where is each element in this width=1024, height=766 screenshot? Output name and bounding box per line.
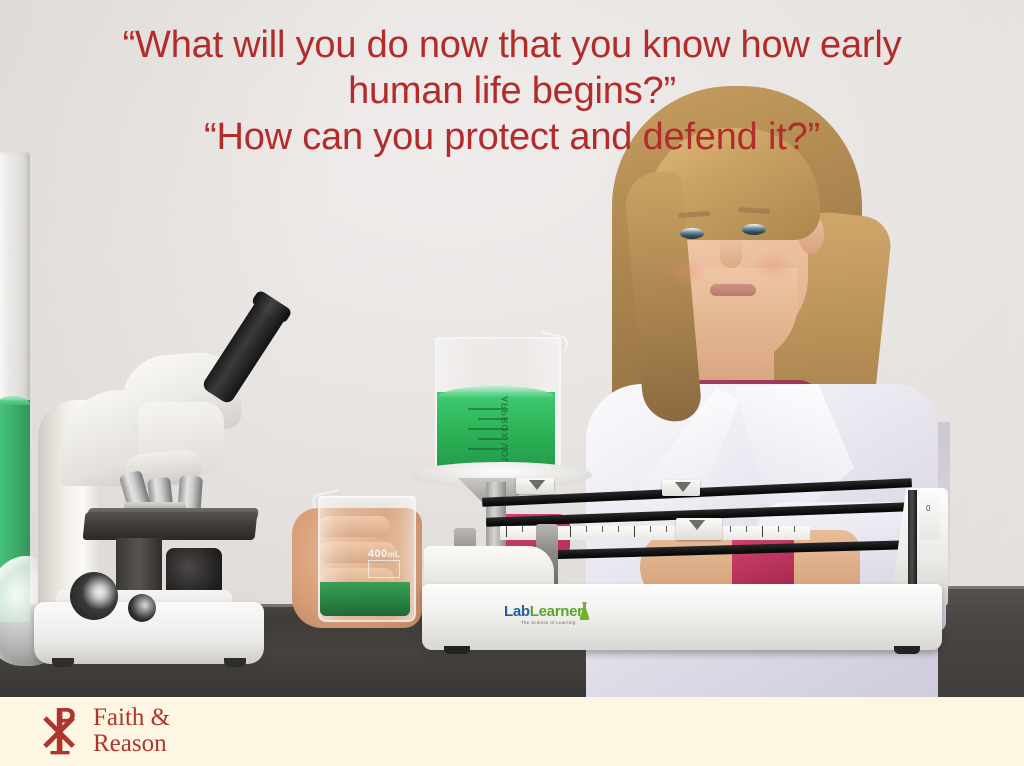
balance-zero-gauge <box>920 490 940 540</box>
triple-beam-balance: 0 LabLearner The Science of Learning <box>396 460 976 690</box>
balance-rider-rear[interactable] <box>516 478 554 494</box>
beaker-large-approx-vol-text: APPROX VOL <box>500 396 510 464</box>
eye-right <box>742 224 766 235</box>
faith-and-reason-logo: Faith & Reason <box>38 705 170 757</box>
faith-and-reason-wordmark: Faith & Reason <box>93 705 170 757</box>
mouth <box>710 284 756 296</box>
lablearner-flask-icon <box>579 602 590 621</box>
lablearner-logo-learner: Learner <box>530 603 583 620</box>
slide: 400mL APPROX VOL <box>0 0 1024 766</box>
balance-rider-middle[interactable] <box>662 480 700 496</box>
beaker-small-volume-value: 400 <box>368 548 388 560</box>
lablearner-logo: LabLearner The Science of Learning <box>504 604 583 625</box>
microscope-coarse-focus-knob <box>70 572 118 620</box>
logo-line-1: Faith & <box>93 705 170 731</box>
nose <box>720 238 742 268</box>
slide-title-line-1: “What will you do now that you know how … <box>48 22 976 68</box>
lablearner-logo-lab: Lab <box>504 603 530 620</box>
microscope-foot-right <box>224 658 246 667</box>
slide-footer: Faith & Reason Copyright 2024 Schola Sci… <box>0 697 1024 766</box>
microscope-fine-focus-knob <box>128 594 156 622</box>
balance-rider-front[interactable] <box>676 518 722 540</box>
balance-base <box>422 584 942 650</box>
lablearner-logo-tagline: The Science of Learning <box>521 621 583 625</box>
balance-pointer <box>908 490 917 594</box>
balance-foot-right <box>894 646 920 654</box>
slide-title: “What will you do now that you know how … <box>48 22 976 160</box>
eye-left <box>680 228 704 239</box>
microscope <box>18 272 298 684</box>
cheek-left <box>666 258 708 286</box>
slide-title-line-3: “How can you protect and defend it?” <box>48 114 976 160</box>
logo-line-2: Reason <box>93 731 170 757</box>
microscope-stage <box>83 512 258 540</box>
slide-title-line-2: human life begins?” <box>48 68 976 114</box>
balance-foot-left <box>444 646 470 654</box>
microscope-foot-left <box>52 658 74 667</box>
balance-zero-mark: 0 <box>926 504 930 513</box>
cheek-right <box>752 252 794 280</box>
chi-rho-icon <box>38 705 84 757</box>
